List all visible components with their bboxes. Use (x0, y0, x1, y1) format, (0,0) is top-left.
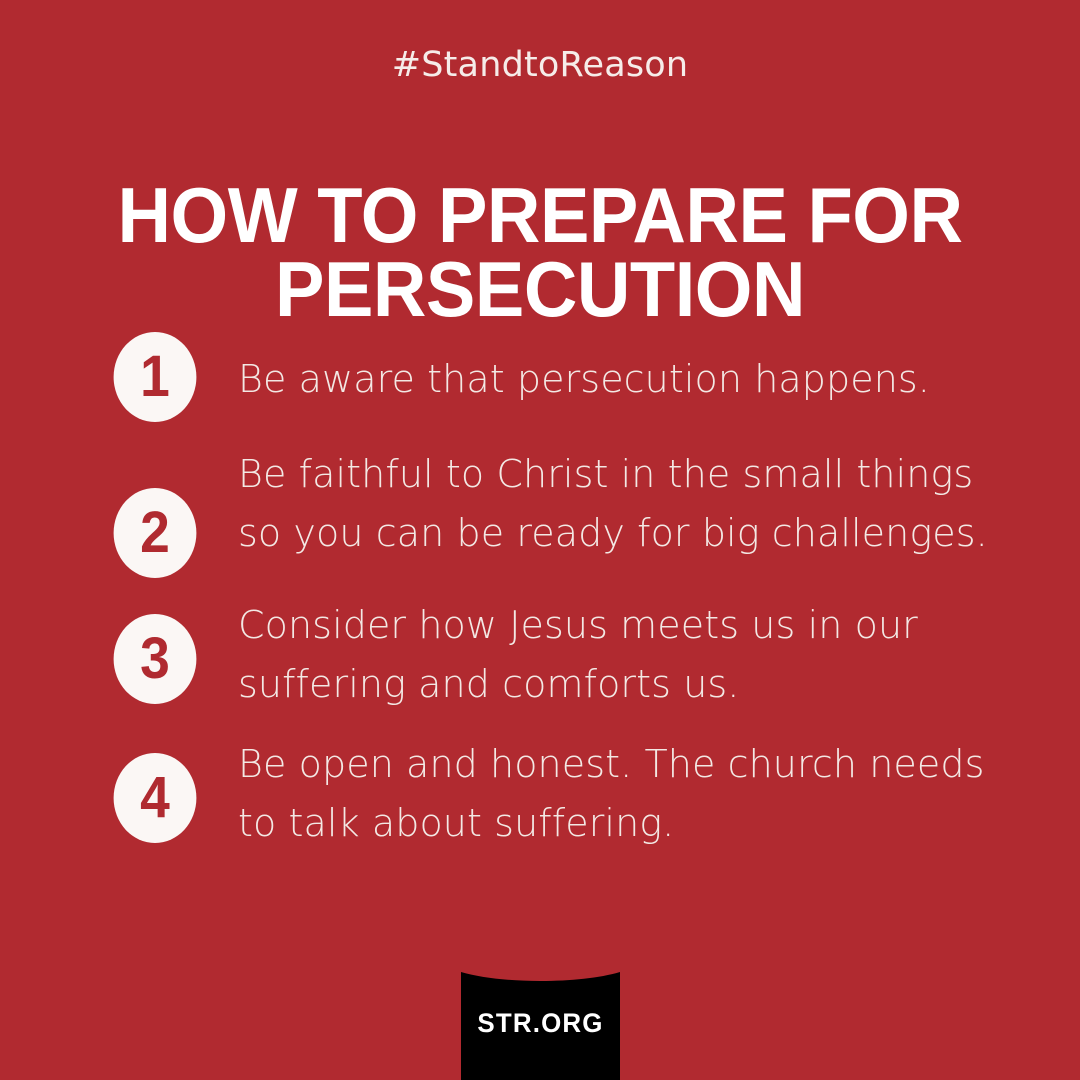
list-item-text: Be faithful to Christ in the small thing… (200, 430, 1080, 564)
list-item: 1 Be aware that persecution happens. (0, 332, 1080, 422)
list-item-text: Consider how Jesus meets us in our suffe… (200, 582, 1080, 715)
list-item: 2 Be faithful to Christ in the small thi… (0, 430, 1080, 578)
list-item-text: Be open and honest. The church needs to … (200, 721, 1080, 854)
list-item-number-badge: 1 (114, 332, 197, 422)
list-item: 4 Be open and honest. The church needs t… (0, 721, 1080, 854)
list-item-number-badge: 4 (114, 753, 197, 843)
poster-canvas: #StandtoReason HOW TO PREPARE FOR PERSEC… (0, 0, 1080, 1080)
str-org-logo[interactable]: STR.ORG (461, 972, 620, 1080)
logo-label: STR.ORG (464, 1008, 617, 1039)
list-item-number-badge: 3 (114, 614, 197, 704)
list-item-text: Be aware that persecution happens. (200, 332, 1080, 409)
list-item-number-badge: 2 (114, 488, 197, 578)
numbered-list: 1 Be aware that persecution happens. 2 B… (0, 332, 1080, 863)
page-title: HOW TO PREPARE FOR PERSECUTION (84, 178, 996, 326)
hashtag-label: #StandtoReason (0, 44, 1080, 86)
list-item: 3 Consider how Jesus meets us in our suf… (0, 582, 1080, 715)
